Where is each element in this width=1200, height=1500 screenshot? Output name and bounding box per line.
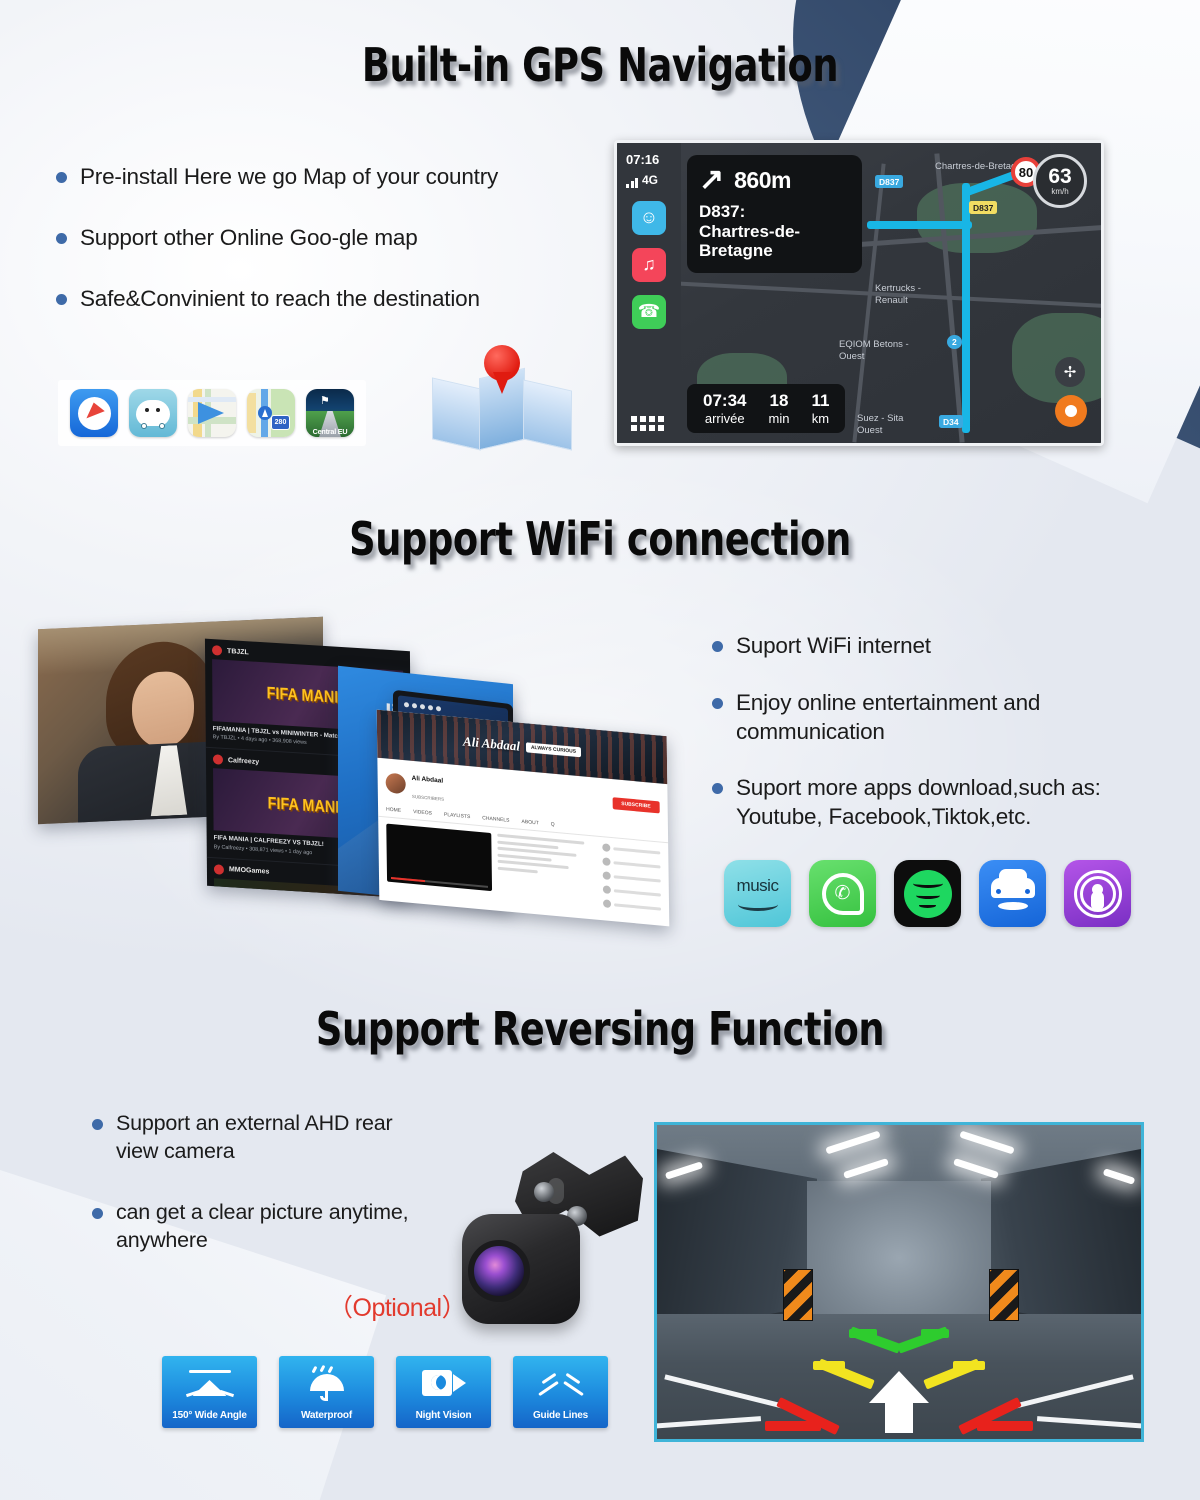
list-item-label: can get a clear picture anytime, anywher… — [116, 1199, 422, 1254]
badge-label: Night Vision — [416, 1410, 472, 1421]
turn-street-label: D837: Chartres-de- Bretagne — [699, 202, 850, 261]
list-item-label: Suport WiFi internet — [736, 632, 931, 661]
badge-label: Waterproof — [301, 1410, 352, 1421]
network-type-label: 4G — [642, 172, 658, 188]
whatsapp-app-icon: ✆ — [809, 860, 876, 927]
reversing-section-title: Support Reversing Function — [120, 1002, 1080, 1056]
car-app-icon — [979, 860, 1046, 927]
list-item-label: Pre-install Here we go Map of your count… — [80, 163, 498, 192]
list-item: Suport WiFi internet — [712, 632, 1152, 661]
list-item-label: Support an external AHD rear view camera — [116, 1110, 422, 1165]
map-label-suez: Suez - Sita Ouest — [857, 413, 915, 437]
avatar — [386, 772, 406, 794]
tab-about[interactable]: ABOUT — [521, 819, 538, 827]
carplay-sidebar: 07:16 4G ☺ ♫ ☎ — [617, 143, 681, 443]
guide-tick-red-left — [765, 1421, 821, 1431]
list-item: can get a clear picture anytime, anywher… — [92, 1199, 422, 1254]
compass-navigation-app-icon — [70, 389, 118, 437]
guide-tick-yellow-right — [953, 1361, 985, 1370]
list-item-label: Suport more apps download,such as: Youtu… — [736, 774, 1152, 832]
guide-tick-green-left — [849, 1329, 877, 1338]
bullet-dot-icon — [712, 641, 723, 652]
map-pin-icon — [484, 345, 520, 381]
tab-home[interactable]: HOME — [386, 807, 401, 814]
wide-angle-badge: 150° Wide Angle — [162, 1356, 257, 1428]
camera-lens — [468, 1240, 530, 1302]
subscriber-count: SUBSCRIBERS — [412, 794, 444, 802]
video-description — [497, 834, 597, 913]
waze-icon[interactable]: ☺ — [632, 201, 666, 235]
map-app-icon-strip: 280 ⚑ Central EU — [58, 380, 366, 446]
optional-tag: （Optional） — [328, 1288, 466, 1324]
bullet-dot-icon — [712, 698, 723, 709]
route-shield-label: 280 — [271, 415, 290, 430]
road-shield-d34: D34 — [939, 415, 963, 428]
list-item: Pre-install Here we go Map of your count… — [56, 163, 596, 192]
list-item: Enjoy online entertainment and communica… — [712, 689, 1152, 747]
turn-distance-label: 860m — [734, 167, 791, 194]
amazon-music-label: music — [737, 876, 779, 896]
hazard-pillar — [783, 1269, 813, 1321]
video-player[interactable] — [386, 824, 492, 892]
phone-icon[interactable]: ☎ — [632, 295, 666, 329]
bullet-dot-icon — [712, 783, 723, 794]
badge-label: 150° Wide Angle — [172, 1410, 246, 1421]
subscribe-button[interactable]: SUBSCRIBE — [612, 797, 660, 813]
night-camera-icon — [422, 1356, 466, 1410]
channel-name: Ali Abdaal — [412, 775, 444, 785]
reversing-camera-view — [654, 1122, 1144, 1442]
wifi-app-icon-row: music ✆ — [724, 860, 1131, 927]
turn-instruction-card: ↗ 860m D837: Chartres-de- Bretagne — [687, 155, 862, 273]
list-item-label: Enjoy online entertainment and communica… — [736, 689, 1152, 747]
list-item: Support other Online Goo-gle map — [56, 224, 596, 253]
tab-playlists[interactable]: PLAYLISTS — [444, 812, 470, 820]
music-icon[interactable]: ♫ — [632, 248, 666, 282]
bullet-dot-icon — [92, 1119, 103, 1130]
map-label-eqiom: EQIOM Betons - Ouest — [839, 339, 909, 363]
list-item: Suport more apps download,such as: Youtu… — [712, 774, 1152, 832]
camera-body — [462, 1214, 580, 1324]
camera-screw-icon — [534, 1182, 554, 1202]
wifi-section-title: Support WiFi connection — [120, 512, 1080, 566]
current-speed-gauge: 63 km/h — [1033, 154, 1087, 208]
guide-tick-yellow-left — [813, 1361, 845, 1370]
list-item-label: Safe&Convinient to reach the destination — [80, 285, 480, 314]
amazon-music-app-icon: music — [724, 860, 791, 927]
hazard-pillar — [989, 1269, 1019, 1321]
list-item: Safe&Convinient to reach the destination — [56, 285, 596, 314]
waze-app-icon — [129, 389, 177, 437]
garage-back-wall — [807, 1181, 991, 1321]
bullet-dot-icon — [56, 233, 67, 244]
duration-cell: 18 min — [768, 391, 789, 426]
guide-lines-icon — [537, 1356, 585, 1410]
waterproof-badge: Waterproof — [279, 1356, 374, 1428]
speed-unit: km/h — [1051, 187, 1068, 196]
arrival-time-cell: 07:34 arrivée — [703, 391, 746, 426]
list-item-label: Support other Online Goo-gle map — [80, 224, 418, 253]
road-shield-d837-b: D837 — [969, 201, 997, 214]
signal-strength-icon — [626, 178, 638, 188]
central-eu-label: Central EU — [306, 427, 354, 436]
wifi-bullet-list: Suport WiFi internet Enjoy online entert… — [712, 632, 1152, 860]
recommended-list — [602, 843, 661, 918]
tab-videos[interactable]: VIDEOS — [413, 809, 432, 817]
distance-cell: 11 km — [811, 391, 829, 426]
apple-maps-app-icon: 280 — [247, 389, 295, 437]
night-vision-badge: Night Vision — [396, 1356, 491, 1428]
guide-tick-red-right — [977, 1421, 1033, 1431]
carplay-navigation-screen: Chartres-de-Bretagne Kertrucks - Renault… — [614, 140, 1104, 446]
bullet-dot-icon — [56, 172, 67, 183]
gps-section-title: Built-in GPS Navigation — [120, 38, 1080, 92]
camera-feature-badges: 150° Wide Angle Waterproof Night Vision … — [162, 1356, 608, 1428]
map-label-kertrucks: Kertrucks - Renault — [875, 283, 939, 307]
road-shield-d837-a: D837 — [875, 175, 903, 188]
wide-angle-icon — [187, 1356, 233, 1410]
central-eu-navigation-app-icon: ⚑ Central EU — [306, 389, 354, 437]
tab-channels[interactable]: CHANNELS — [482, 815, 509, 823]
youtube-channel-panel: Ali Abdaal ALWAYS CURIOUS Ali Abdaal SUB… — [377, 710, 670, 927]
recenter-map-button[interactable]: ✢ — [1055, 357, 1085, 387]
paper-plane-map-app-icon — [188, 389, 236, 437]
wifi-device-collage: TBJZL FIFA MANIA FIFAMANIA | TBJZL vs MI… — [38, 615, 678, 925]
guide-tick-green-right — [921, 1329, 949, 1338]
trip-summary-bar: 07:34 arrivée 18 min 11 km — [687, 384, 845, 433]
badge-label: Guide Lines — [533, 1410, 588, 1421]
product-feature-page: Built-in GPS Navigation Pre-install Here… — [0, 0, 1200, 1500]
list-item: Support an external AHD rear view camera — [92, 1110, 422, 1165]
bullet-dot-icon — [56, 294, 67, 305]
app-launcher-grid-icon[interactable] — [631, 416, 664, 431]
turn-arrow-icon: ↗ — [699, 165, 724, 195]
umbrella-icon — [307, 1356, 347, 1410]
folded-world-map-graphic — [432, 345, 572, 445]
bullet-dot-icon — [92, 1208, 103, 1219]
search-icon[interactable]: Q — [551, 822, 555, 828]
clock-label: 07:16 — [626, 151, 681, 169]
spotify-app-icon — [894, 860, 961, 927]
speed-value: 63 — [1048, 166, 1071, 187]
record-button[interactable] — [1055, 395, 1087, 427]
rear-view-camera-product — [452, 1148, 647, 1338]
guide-lines-badge: Guide Lines — [513, 1356, 608, 1428]
reversing-bullet-list: Support an external AHD rear view camera… — [92, 1110, 422, 1288]
carplay-status: 07:16 4G — [617, 151, 681, 188]
gps-bullet-list: Pre-install Here we go Map of your count… — [56, 163, 596, 345]
podcasts-app-icon — [1064, 860, 1131, 927]
exit-number-badge: 2 — [947, 335, 962, 349]
